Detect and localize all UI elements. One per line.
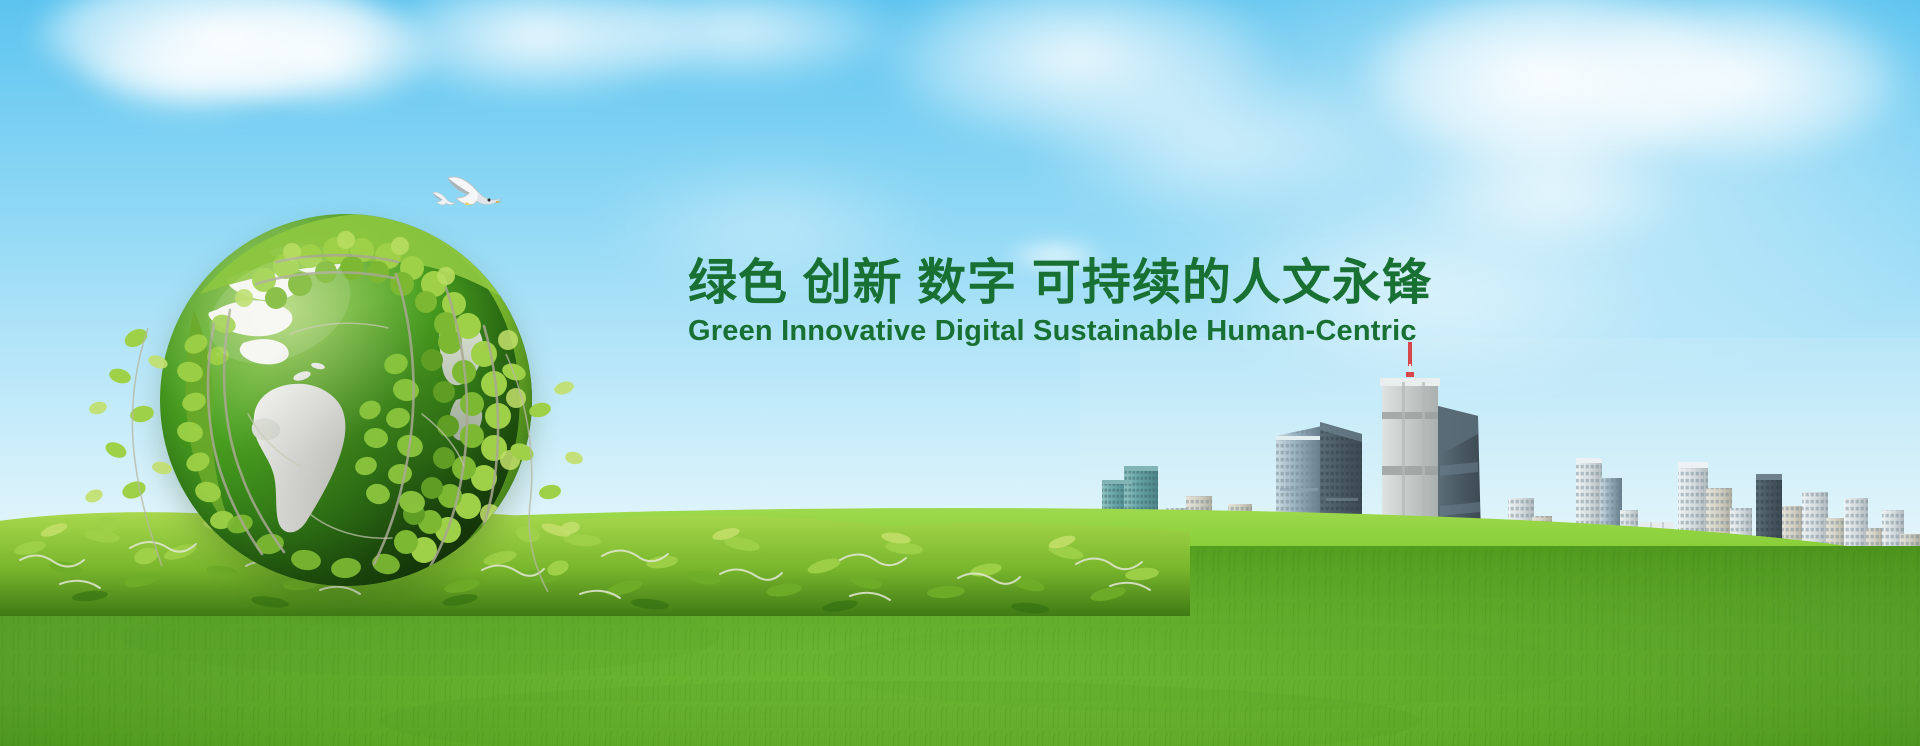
headline-english: Green Innovative Digital Sustainable Hum… [688, 315, 1432, 348]
headline-block: 绿色 创新 数字 可持续的人文永锋 Green Innovative Digit… [688, 258, 1432, 348]
headline-chinese: 绿色 创新 数字 可持续的人文永锋 [688, 258, 1432, 309]
eco-banner: 绿色 创新 数字 可持续的人文永锋 Green Innovative Digit… [0, 0, 1920, 746]
falling-leaves [90, 318, 290, 598]
falling-leaves-right [478, 348, 678, 608]
green-earth-globe [148, 198, 548, 598]
